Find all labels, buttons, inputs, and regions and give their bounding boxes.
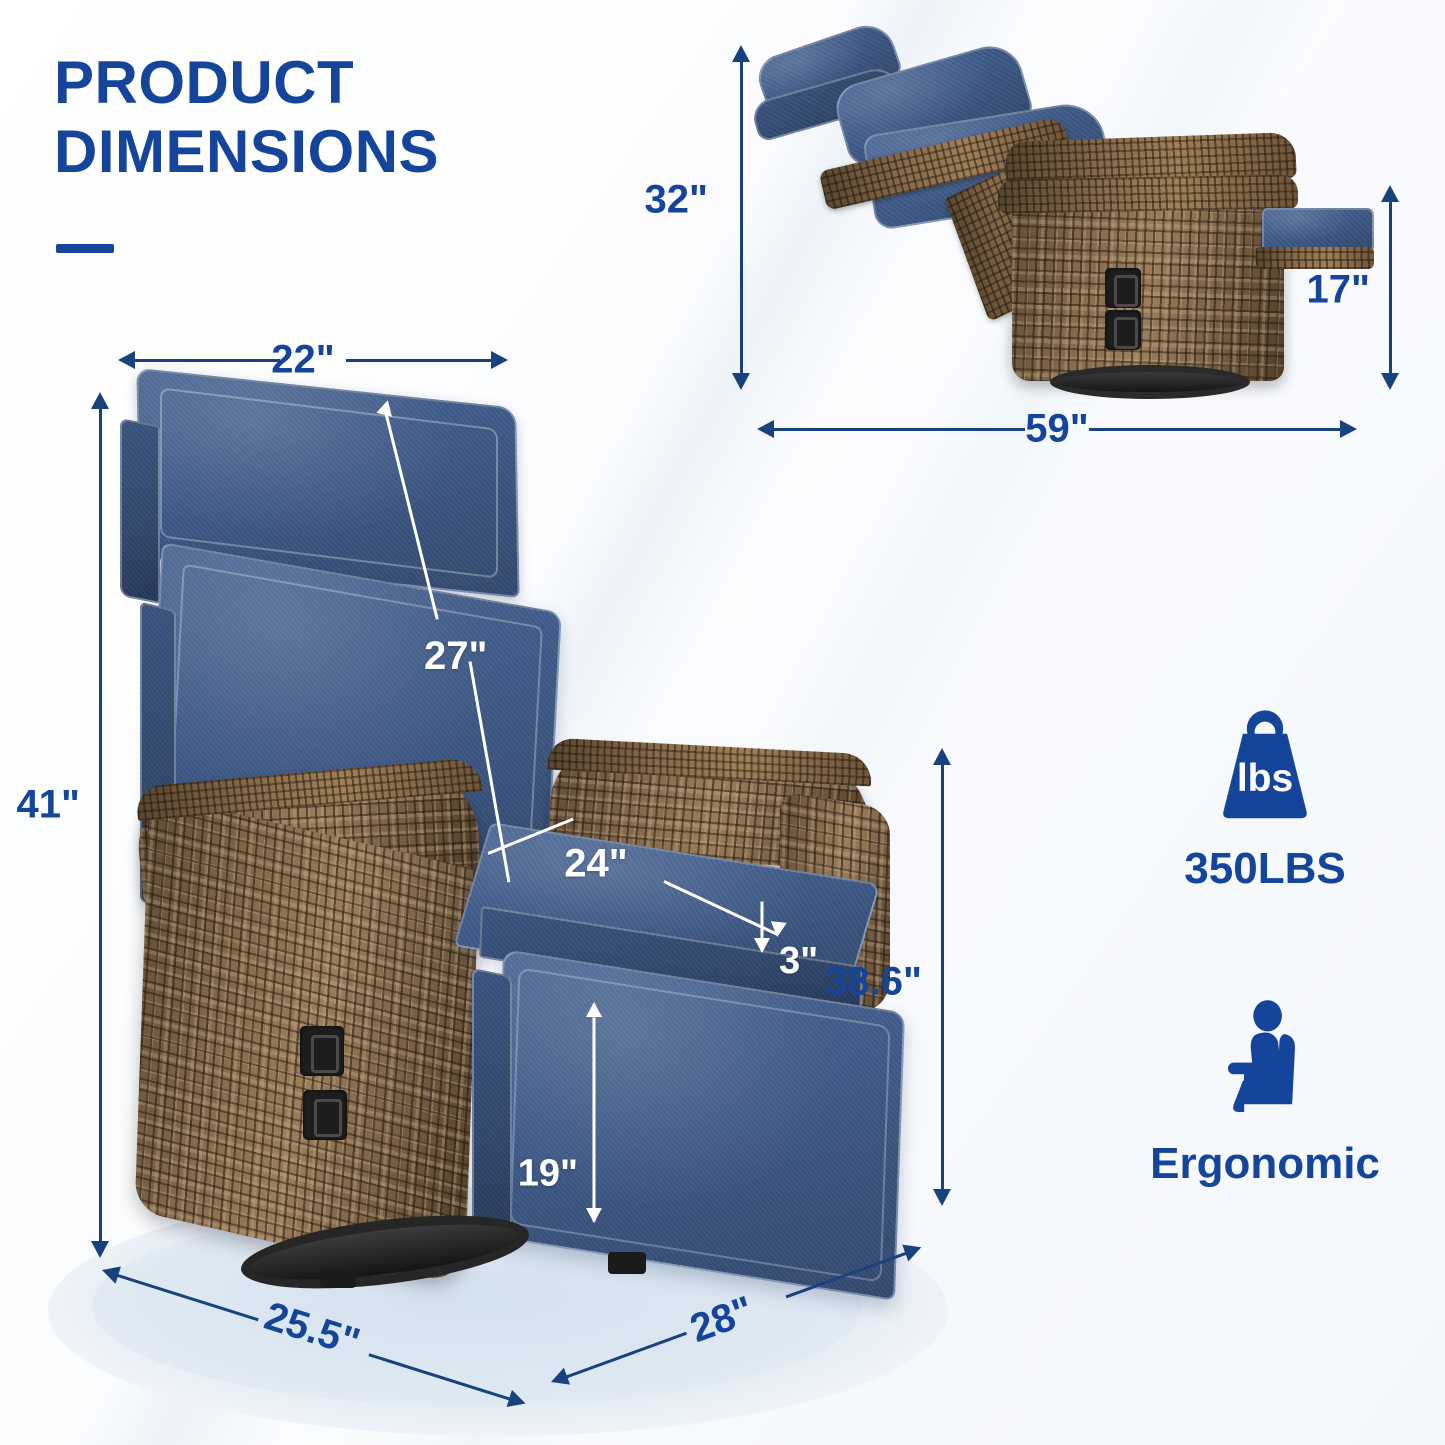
dimension-label-backrest-width: 22" — [271, 338, 334, 383]
upright-headrest-side-flap — [120, 418, 160, 604]
upright-footrest-side-return — [472, 968, 512, 1247]
upright-base-foot-right — [608, 1252, 646, 1274]
weight-icon-unit-text: lbs — [1237, 757, 1293, 800]
feature-weight-capacity-caption: 350LBS — [1110, 844, 1420, 894]
product-dimensions-infographic: PRODUCT DIMENSIONS 32" — [0, 0, 1445, 1445]
dimension-label-overall-depth: 38.6" — [825, 960, 922, 1005]
dimension-label-recline-height: 32" — [645, 178, 708, 223]
dimension-label-recline-length: 59" — [1025, 407, 1088, 452]
reclined-latch-upper-icon — [1105, 268, 1141, 308]
dimension-line-footrest-height — [1378, 185, 1402, 390]
reclined-latch-lower-icon — [1105, 310, 1141, 350]
feature-weight-capacity: lbs 350LBS — [1110, 700, 1420, 894]
page-title: PRODUCT DIMENSIONS — [54, 48, 614, 186]
dimension-line-overall-depth — [930, 748, 954, 1206]
dimension-label-footrest-height: 17" — [1307, 268, 1370, 313]
reclined-footrest-cushion — [1262, 208, 1374, 250]
feature-ergonomic: Ergonomic — [1110, 995, 1420, 1189]
dimension-line-recline-height — [729, 45, 753, 390]
reclined-recliner-illustration — [750, 25, 1370, 405]
leader-head-seat-depth — [769, 921, 786, 938]
dimension-line-overall-height — [88, 392, 112, 1258]
reclined-arm-second-rail — [998, 174, 1299, 213]
upright-latch-upper-icon — [300, 1026, 344, 1076]
dimension-label-overall-height: 41" — [17, 783, 80, 828]
leader-head-seat-height-top — [586, 1002, 602, 1017]
leader-line-seat-height — [593, 1018, 596, 1222]
page-title-line-1: PRODUCT — [54, 48, 614, 117]
weight-lbs-icon: lbs — [1200, 700, 1330, 830]
reclined-footrest-frame — [1256, 247, 1374, 269]
person-seated-recliner-icon — [1200, 995, 1330, 1125]
dimension-label-seat-height: 19" — [518, 1153, 578, 1196]
dimension-label-seat-depth: 24" — [564, 842, 627, 887]
leader-head-seat-height-bottom — [586, 1208, 602, 1223]
page-title-line-2: DIMENSIONS — [54, 117, 614, 186]
leader-head-cushion-thickness — [754, 938, 770, 953]
dimension-label-backrest-height: 27" — [424, 634, 487, 679]
reclined-swivel-base — [1050, 365, 1250, 399]
title-underline-rule — [56, 244, 114, 253]
upright-recliner-illustration — [120, 380, 910, 1320]
upright-base-foot-left — [320, 1268, 356, 1288]
dimension-label-cushion-thickness: 3" — [779, 940, 818, 983]
upright-latch-lower-icon — [303, 1090, 347, 1140]
feature-ergonomic-caption: Ergonomic — [1110, 1139, 1420, 1189]
